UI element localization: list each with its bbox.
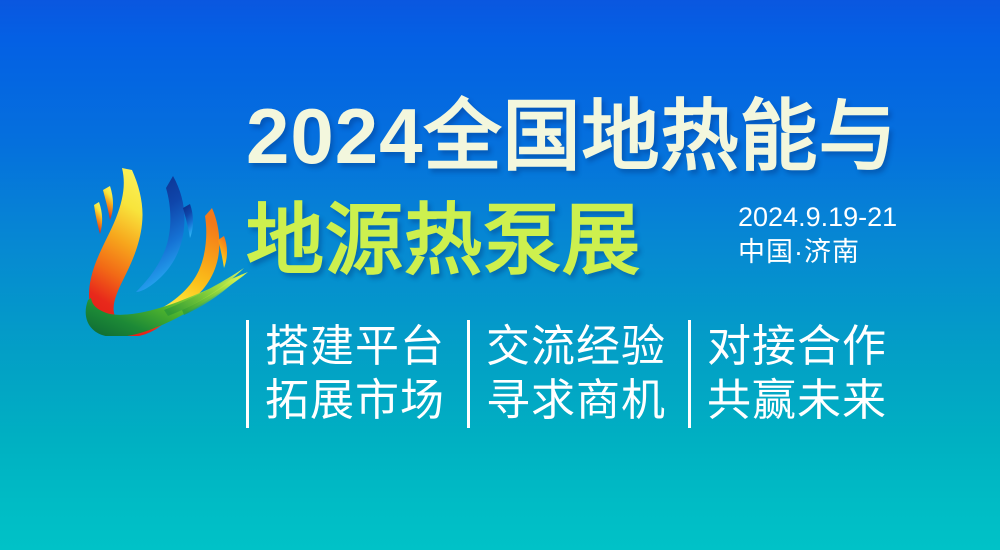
- slogan-group-3: 对接合作 共赢未来: [688, 320, 909, 428]
- event-date: 2024.9.19-21: [738, 200, 897, 234]
- slogan-1-line-2: 拓展市场: [265, 374, 445, 428]
- slogan-3-line-2: 共赢未来: [707, 374, 887, 428]
- slogan-group-1: 搭建平台 拓展市场: [246, 320, 467, 428]
- event-banner: 2024全国地热能与 地源热泵展 2024.9.19-21 中国·济南 搭建平台…: [0, 0, 1000, 550]
- slogan-3-line-1: 对接合作: [707, 320, 887, 374]
- flame-petal-center: [136, 176, 193, 292]
- slogan-2-line-2: 寻求商机: [486, 374, 666, 428]
- event-venue: 中国·济南: [738, 234, 897, 270]
- slogan-bar: 搭建平台 拓展市场 交流经验 寻求商机 对接合作 共赢未来: [246, 320, 909, 428]
- slogan-group-2: 交流经验 寻求商机: [467, 320, 688, 428]
- slogan-1-line-1: 搭建平台: [265, 320, 445, 374]
- title-line-1: 2024全国地热能与: [246, 84, 946, 188]
- geothermal-flame-sail-logo: [72, 158, 252, 336]
- slogan-2-line-1: 交流经验: [486, 320, 666, 374]
- event-meta: 2024.9.19-21 中国·济南: [738, 200, 897, 270]
